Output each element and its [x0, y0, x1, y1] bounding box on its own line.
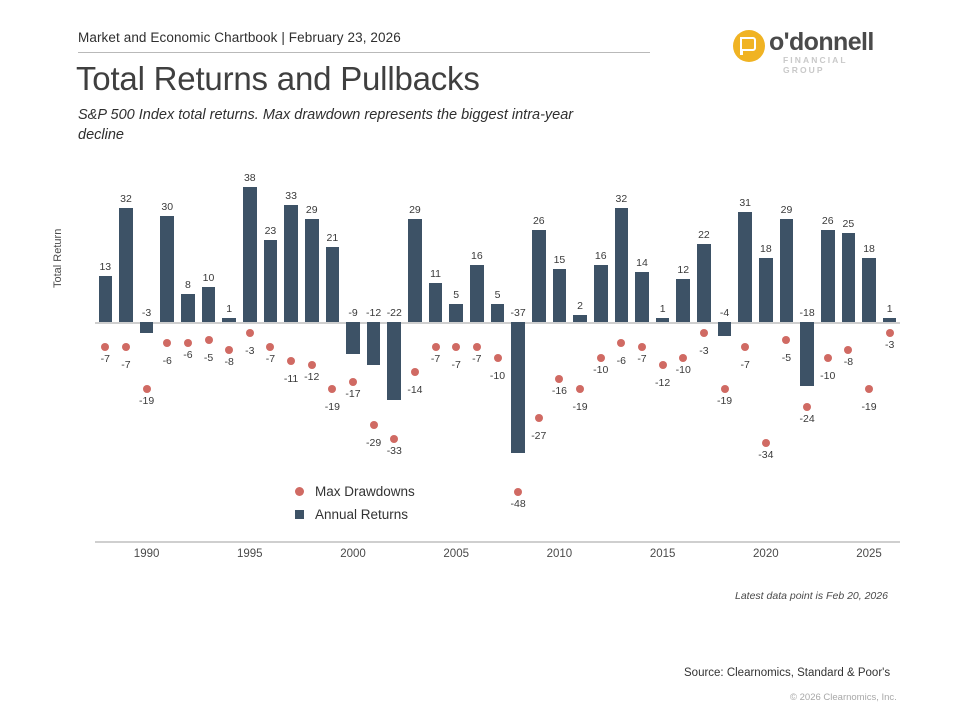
drawdown-dot-1993	[205, 336, 213, 344]
drawdown-dot-2000	[349, 378, 357, 386]
chart-legend: Max Drawdowns Annual Returns	[295, 480, 415, 526]
bar-label-1997: 33	[276, 190, 306, 202]
bar-label-1991: 30	[152, 201, 182, 213]
drawdown-dot-2004	[432, 343, 440, 351]
bar-1996	[264, 240, 278, 322]
bar-label-2016: 12	[668, 264, 698, 276]
bar-label-2013: 32	[606, 193, 636, 205]
bar-label-2005: 5	[441, 289, 471, 301]
header-divider	[78, 52, 650, 53]
bar-2001	[367, 322, 381, 365]
bar-2026	[883, 318, 897, 322]
logo-wordmark: o'donnell	[769, 28, 874, 57]
bar-label-2002: -22	[379, 307, 409, 319]
drawdown-label-2018: -19	[710, 395, 740, 407]
drawdown-dot-2020	[762, 439, 770, 447]
legend-dot-icon	[295, 487, 304, 496]
x-tick-2010: 2010	[547, 548, 573, 560]
drawdown-dot-2015	[659, 361, 667, 369]
drawdown-label-2022: -24	[792, 413, 822, 425]
drawdown-label-2009: -27	[524, 430, 554, 442]
bar-label-1990: -3	[132, 307, 162, 319]
bar-2023	[821, 230, 835, 322]
drawdown-dot-1989	[122, 343, 130, 351]
drawdown-label-1989: -7	[111, 359, 141, 371]
drawdown-label-2014: -7	[627, 353, 657, 365]
drawdown-dot-2024	[844, 346, 852, 354]
latest-data-note: Latest data point is Feb 20, 2026	[735, 590, 888, 602]
bar-label-2009: 26	[524, 215, 554, 227]
drawdown-dot-2003	[411, 368, 419, 376]
drawdown-label-2002: -33	[379, 445, 409, 457]
slide: Market and Economic Chartbook | February…	[0, 0, 960, 720]
drawdown-label-1996: -7	[255, 353, 285, 365]
bar-2012	[594, 265, 608, 322]
drawdown-dot-1990	[143, 385, 151, 393]
source-line: Source: Clearnomics, Standard & Poor's	[684, 667, 890, 679]
drawdown-dot-2025	[865, 385, 873, 393]
legend-item-drawdowns: Max Drawdowns	[295, 480, 415, 503]
drawdown-dot-2019	[741, 343, 749, 351]
bar-label-1995: 38	[235, 172, 265, 184]
bar-label-2022: -18	[792, 307, 822, 319]
page-subtitle: S&P 500 Index total returns. Max drawdow…	[78, 106, 598, 145]
x-tick-2020: 2020	[753, 548, 779, 560]
bar-label-2021: 29	[771, 204, 801, 216]
odonnell-logo: o'donnell FINANCIAL GROUP	[733, 28, 883, 70]
legend-square-icon	[295, 510, 304, 519]
drawdown-label-1990: -19	[132, 395, 162, 407]
bar-2015	[656, 318, 670, 322]
logo-speech-bubble-icon	[733, 30, 765, 62]
drawdown-label-2011: -19	[565, 401, 595, 413]
bar-label-2003: 29	[400, 204, 430, 216]
drawdown-dot-2014	[638, 343, 646, 351]
drawdown-label-2019: -7	[730, 359, 760, 371]
bar-label-2006: 16	[462, 250, 492, 262]
drawdown-label-2015: -12	[648, 377, 678, 389]
bar-2005	[449, 304, 463, 322]
drawdown-dot-1996	[266, 343, 274, 351]
drawdown-dot-2022	[803, 403, 811, 411]
drawdown-dot-2010	[555, 375, 563, 383]
bar-label-2004: 11	[421, 268, 451, 280]
drawdown-dot-2002	[390, 435, 398, 443]
bar-1989	[119, 208, 133, 322]
drawdown-dot-1997	[287, 357, 295, 365]
drawdown-dot-2007	[494, 354, 502, 362]
copyright-line: © 2026 Clearnomics, Inc.	[790, 692, 897, 703]
bar-label-2012: 16	[586, 250, 616, 262]
bar-label-2019: 31	[730, 197, 760, 209]
bar-label-1998: 29	[297, 204, 327, 216]
bar-label-1996: 23	[255, 225, 285, 237]
legend-label-drawdowns: Max Drawdowns	[315, 484, 415, 499]
drawdown-dot-2012	[597, 354, 605, 362]
bar-2020	[759, 258, 773, 322]
bar-2016	[676, 279, 690, 322]
page-title: Total Returns and Pullbacks	[76, 60, 480, 98]
drawdown-label-1994: -8	[214, 356, 244, 368]
drawdown-dot-2009	[535, 414, 543, 422]
bar-label-2011: 2	[565, 300, 595, 312]
bar-label-1993: 10	[194, 272, 224, 284]
bar-label-2008: -37	[503, 307, 533, 319]
drawdown-label-2026: -3	[875, 339, 905, 351]
bar-label-2017: 22	[689, 229, 719, 241]
chartbook-kicker: Market and Economic Chartbook | February…	[78, 30, 650, 45]
drawdown-dot-2005	[452, 343, 460, 351]
bar-1992	[181, 294, 195, 322]
logo-tagline: FINANCIAL GROUP	[783, 55, 883, 75]
drawdown-label-2003: -14	[400, 384, 430, 396]
bar-label-2024: 25	[833, 218, 863, 230]
x-tick-1990: 1990	[134, 548, 160, 560]
bar-label-1989: 32	[111, 193, 141, 205]
bar-1988	[99, 276, 113, 322]
drawdown-label-2020: -34	[751, 449, 781, 461]
legend-item-returns: Annual Returns	[295, 503, 415, 526]
drawdown-label-2023: -10	[813, 370, 843, 382]
bar-1991	[160, 216, 174, 323]
bar-label-1994: 1	[214, 303, 244, 315]
bar-label-1988: 13	[90, 261, 120, 273]
x-tick-2015: 2015	[650, 548, 676, 560]
drawdown-dot-1991	[163, 339, 171, 347]
drawdown-label-2008: -48	[503, 498, 533, 510]
drawdown-label-1999: -19	[317, 401, 347, 413]
drawdown-dot-1995	[246, 329, 254, 337]
drawdown-dot-1998	[308, 361, 316, 369]
bar-1997	[284, 205, 298, 322]
drawdown-dot-1992	[184, 339, 192, 347]
bar-2019	[738, 212, 752, 322]
legend-label-returns: Annual Returns	[315, 507, 408, 522]
bar-2009	[532, 230, 546, 322]
bar-label-1999: 21	[317, 232, 347, 244]
drawdown-label-2025: -19	[854, 401, 884, 413]
bar-label-2020: 18	[751, 243, 781, 255]
drawdown-label-2000: -17	[338, 388, 368, 400]
drawdown-dot-2018	[721, 385, 729, 393]
bar-1995	[243, 187, 257, 322]
bar-2010	[553, 269, 567, 322]
bar-label-2015: 1	[648, 303, 678, 315]
bar-2018	[718, 322, 732, 336]
drawdown-dot-2013	[617, 339, 625, 347]
drawdown-dot-2023	[824, 354, 832, 362]
bar-1990	[140, 322, 154, 333]
drawdown-label-2017: -3	[689, 345, 719, 357]
drawdown-dot-2006	[473, 343, 481, 351]
drawdown-dot-2008	[514, 488, 522, 496]
x-tick-2005: 2005	[443, 548, 469, 560]
drawdown-dot-2017	[700, 329, 708, 337]
bar-label-2026: 1	[875, 303, 905, 315]
bar-2011	[573, 315, 587, 322]
x-tick-1995: 1995	[237, 548, 263, 560]
x-tick-2025: 2025	[856, 548, 882, 560]
drawdown-label-2021: -5	[771, 352, 801, 364]
bar-label-2010: 15	[544, 254, 574, 266]
bar-label-2014: 14	[627, 257, 657, 269]
bar-2000	[346, 322, 360, 354]
drawdown-dot-2001	[370, 421, 378, 429]
drawdown-dot-2016	[679, 354, 687, 362]
bar-label-2007: 5	[483, 289, 513, 301]
drawdown-label-2024: -8	[833, 356, 863, 368]
x-axis-line	[95, 541, 900, 543]
bar-label-2018: -4	[710, 307, 740, 319]
drawdown-label-2006: -7	[462, 353, 492, 365]
drawdown-label-2007: -10	[483, 370, 513, 382]
drawdown-dot-1988	[101, 343, 109, 351]
drawdown-dot-1994	[225, 346, 233, 354]
drawdown-dot-2026	[886, 329, 894, 337]
bar-label-2025: 18	[854, 243, 884, 255]
drawdown-dot-1999	[328, 385, 336, 393]
drawdown-label-1998: -12	[297, 371, 327, 383]
zero-baseline	[95, 322, 900, 324]
drawdown-label-2016: -10	[668, 364, 698, 376]
drawdown-dot-2011	[576, 385, 584, 393]
drawdown-label-2010: -16	[544, 385, 574, 397]
bar-1994	[222, 318, 236, 322]
x-tick-2000: 2000	[340, 548, 366, 560]
returns-drawdowns-chart: 13-732-7-3-1930-68-610-51-838-323-733-11…	[0, 150, 960, 570]
drawdown-dot-2021	[782, 336, 790, 344]
